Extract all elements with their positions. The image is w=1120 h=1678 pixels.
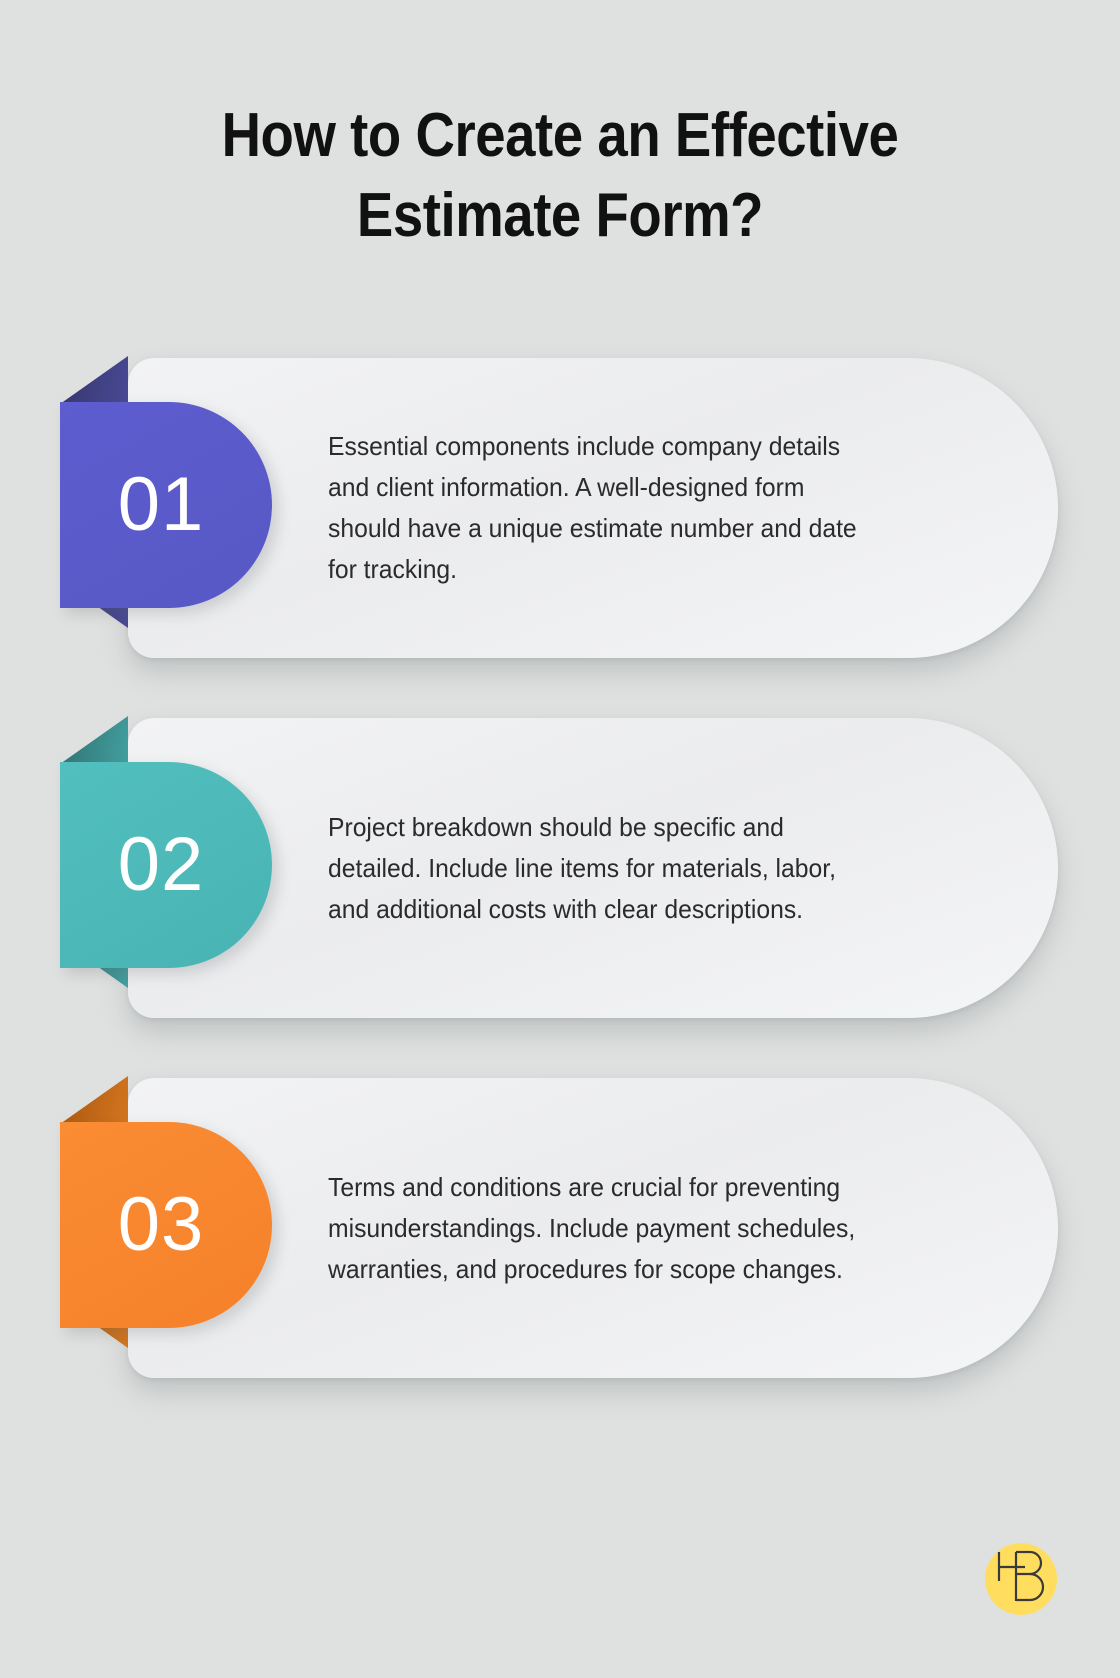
brand-logo [985, 1543, 1057, 1615]
step-ribbon: 01 [60, 338, 272, 638]
step-item-01: 01 Essential components include company … [0, 338, 1120, 638]
steps-list: 01 Essential components include company … [0, 338, 1120, 1418]
step-ribbon: 02 [60, 698, 272, 998]
step-number-badge: 01 [60, 402, 272, 608]
step-number-label: 03 [118, 1187, 215, 1263]
step-item-02: 02 Project breakdown should be specific … [0, 698, 1120, 998]
hb-monogram-icon [985, 1543, 1057, 1615]
ribbon-fold-top-icon [60, 716, 128, 764]
ribbon-fold-top-icon [60, 356, 128, 404]
step-item-03: 03 Terms and conditions are crucial for … [0, 1058, 1120, 1358]
step-number-badge: 02 [60, 762, 272, 968]
step-description: Essential components include company det… [328, 358, 860, 658]
page-title: How to Create an Effective Estimate Form… [151, 96, 969, 256]
step-description: Project breakdown should be specific and… [328, 718, 860, 1018]
step-ribbon: 03 [60, 1058, 272, 1358]
step-number-badge: 03 [60, 1122, 272, 1328]
step-description: Terms and conditions are crucial for pre… [328, 1078, 860, 1378]
step-number-label: 01 [118, 467, 215, 543]
step-number-label: 02 [118, 827, 215, 903]
ribbon-fold-top-icon [60, 1076, 128, 1124]
